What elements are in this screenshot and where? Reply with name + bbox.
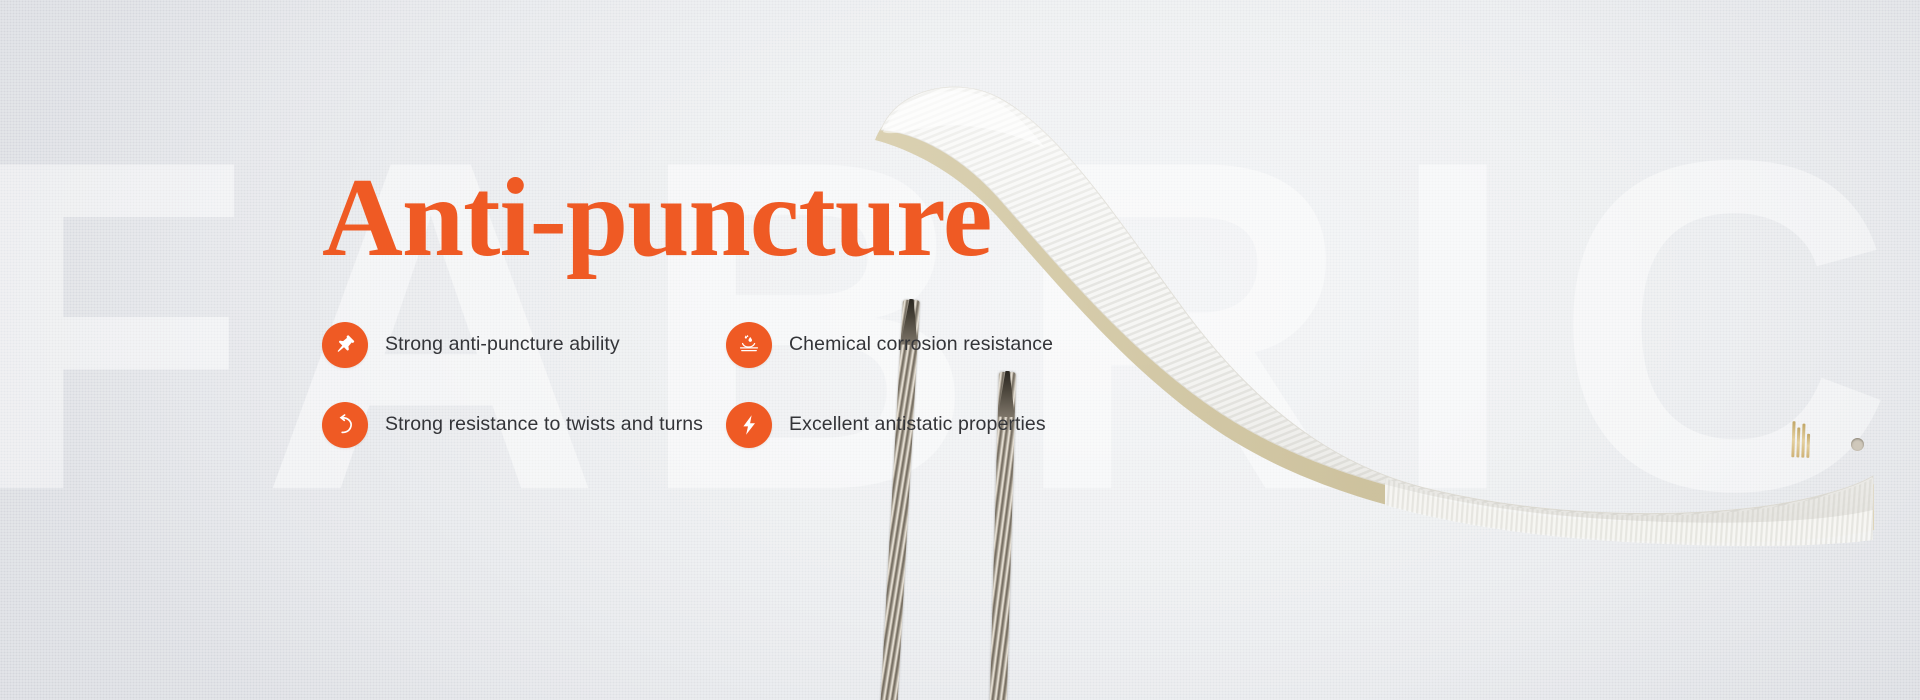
heel-eyelet-icon <box>1851 438 1864 451</box>
feature-label: Strong anti-puncture ability <box>385 333 620 356</box>
feature-item-chemical-corrosion: Chemical corrosion resistance <box>726 322 1130 368</box>
twist-rotate-icon <box>322 402 368 448</box>
anti-puncture-hero-banner: FABRIC <box>0 0 1920 700</box>
pushpin-icon <box>322 322 368 368</box>
feature-item-antistatic: Excellent antistatic properties <box>726 402 1130 448</box>
product-photo <box>1010 0 1920 700</box>
feature-label: Excellent antistatic properties <box>789 413 1046 436</box>
corrosion-drops-icon <box>726 322 772 368</box>
page-title: Anti-puncture <box>322 160 1082 278</box>
feature-label: Chemical corrosion resistance <box>789 333 1053 356</box>
feature-label: Strong resistance to twists and turns <box>385 413 703 436</box>
feature-item-anti-puncture: Strong anti-puncture ability <box>322 322 726 368</box>
gold-brand-stamp-icon <box>1791 417 1836 459</box>
feature-item-twist-resistance: Strong resistance to twists and turns <box>322 402 726 448</box>
banner-content: Anti-puncture Strong anti-puncture abili… <box>322 160 1082 448</box>
feature-list: Strong anti-puncture ability Chemical co… <box>322 322 1142 448</box>
lightning-bolt-icon <box>726 402 772 448</box>
